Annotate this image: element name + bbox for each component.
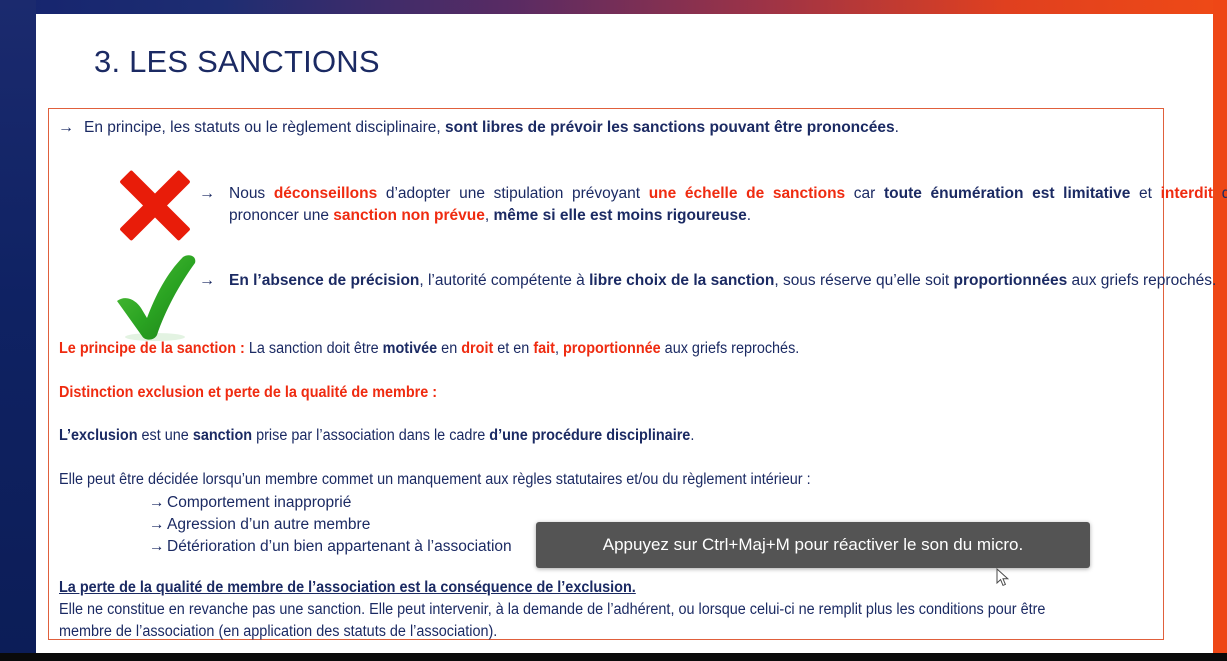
window-bottom-strip bbox=[0, 653, 1227, 661]
arrow-right-icon: → bbox=[199, 270, 215, 292]
exclusion-conditions-line: Elle peut être décidée lorsqu’un membre … bbox=[59, 471, 1082, 489]
principe-sanction-line: Le principe de la sanction : La sanction… bbox=[59, 340, 1082, 358]
arrow-right-icon: → bbox=[149, 492, 167, 514]
list-item: →Comportement inapproprié bbox=[149, 492, 512, 514]
discouraged-paragraph: → Nous déconseillons d’adopter une stipu… bbox=[199, 183, 1227, 227]
list-item-label: Détérioration d’un bien appartenant à l’… bbox=[167, 538, 512, 555]
arrow-right-icon: → bbox=[199, 183, 215, 205]
exclusion-reasons-list: →Comportement inapproprié →Agression d’u… bbox=[149, 492, 512, 558]
list-item-label: Comportement inapproprié bbox=[167, 494, 351, 511]
window-right-rail bbox=[1213, 0, 1227, 661]
top-bullet-line: →En principe, les statuts ou le règlemen… bbox=[58, 118, 1153, 138]
list-item: →Agression d’un autre membre bbox=[149, 514, 512, 536]
green-check-icon bbox=[107, 251, 207, 341]
absence-precision-paragraph: → En l’absence de précision, l’autorité … bbox=[199, 270, 1227, 292]
exclusion-definition-line: L’exclusion est une sanction prise par l… bbox=[59, 427, 1082, 445]
list-item-label: Agression d’un autre membre bbox=[167, 516, 370, 533]
absence-precision-paragraph-text: En l’absence de précision, l’autorité co… bbox=[229, 270, 1227, 292]
distinction-heading: Distinction exclusion et perte de la qua… bbox=[59, 384, 1082, 402]
top-bullet-text: En principe, les statuts ou le règlement… bbox=[84, 119, 899, 136]
presentation-window: 3. LES SANCTIONS →En principe, les statu… bbox=[0, 0, 1227, 661]
window-top-gradient-bar bbox=[0, 0, 1227, 14]
mic-unmute-toast[interactable]: Appuyez sur Ctrl+Maj+M pour réactiver le… bbox=[536, 522, 1090, 568]
perte-qualite-body: Elle ne constitue en revanche pas une sa… bbox=[59, 599, 1082, 643]
red-cross-icon bbox=[107, 169, 203, 237]
discouraged-paragraph-text: Nous déconseillons d’adopter une stipula… bbox=[229, 183, 1227, 227]
window-left-rail bbox=[0, 0, 36, 661]
mic-unmute-toast-message: Appuyez sur Ctrl+Maj+M pour réactiver le… bbox=[603, 535, 1023, 555]
arrow-right-icon: → bbox=[149, 536, 167, 558]
list-item: →Détérioration d’un bien appartenant à l… bbox=[149, 536, 512, 558]
perte-qualite-heading: La perte de la qualité de membre de l’as… bbox=[59, 577, 1082, 599]
page-title: 3. LES SANCTIONS bbox=[94, 44, 380, 80]
arrow-right-icon: → bbox=[149, 514, 167, 536]
perte-qualite-block: La perte de la qualité de membre de l’as… bbox=[59, 577, 1082, 643]
arrow-right-icon: → bbox=[58, 118, 84, 138]
